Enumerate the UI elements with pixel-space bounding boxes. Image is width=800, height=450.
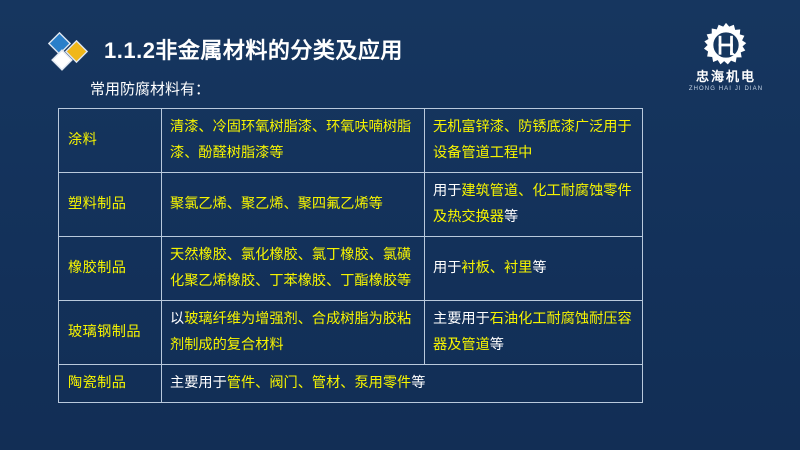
- slide-subtitle: 常用防腐材料有：: [90, 78, 210, 99]
- row-uses-lead: 用于: [433, 260, 461, 276]
- row-uses: 用于衬板、衬里等: [425, 237, 643, 301]
- row-uses-main: 衬板、衬里: [461, 260, 532, 276]
- page-title: 1.1.2非金属材料的分类及应用: [104, 33, 403, 65]
- row-uses-tail: 等: [504, 209, 518, 225]
- table-row: 塑料制品 聚氯乙烯、聚乙烯、聚四氟乙烯等 用于建筑管道、化工耐腐蚀零件及热交换器…: [59, 173, 643, 237]
- company-name-cn: 忠海机电: [696, 69, 756, 84]
- table-row: 陶瓷制品 主要用于管件、阀门、管材、泵用零件等: [59, 365, 643, 403]
- row-uses-main: 无机富锌漆、防锈底漆广泛用于设备管道工程中: [433, 119, 632, 161]
- row-category: 塑料制品: [59, 173, 162, 237]
- table-row: 玻璃钢制品 以玻璃纤维为增强剂、合成树脂为胶粘剂制成的复合材料 主要用于石油化工…: [59, 301, 643, 365]
- slide-header: 1.1.2非金属材料的分类及应用 常用防腐材料有： 忠海机电 ZHONG HAI…: [0, 0, 800, 86]
- row-items-lead: 以: [170, 311, 184, 327]
- row-category: 橡胶制品: [59, 237, 162, 301]
- materials-table: 涂料 清漆、冷固环氧树脂漆、环氧呋喃树脂漆、酚醛树脂漆等 无机富锌漆、防锈底漆广…: [58, 108, 643, 403]
- row-uses: 主要用于石油化工耐腐蚀耐压容器及管道等: [425, 301, 643, 365]
- row-uses: 无机富锌漆、防锈底漆广泛用于设备管道工程中: [425, 109, 643, 173]
- row-uses-tail: 等: [490, 337, 504, 353]
- slide-canvas: 1.1.2非金属材料的分类及应用 常用防腐材料有： 忠海机电 ZHONG HAI…: [0, 0, 800, 450]
- row-items: 天然橡胶、氯化橡胶、氯丁橡胶、氯磺化聚乙烯橡胶、丁苯橡胶、丁酯橡胶等: [162, 237, 425, 301]
- row-summary-main: 管件、阀门、管材、泵用零件: [227, 375, 411, 391]
- row-summary-lead: 主要用于: [170, 375, 227, 391]
- table-row: 涂料 清漆、冷固环氧树脂漆、环氧呋喃树脂漆、酚醛树脂漆等 无机富锌漆、防锈底漆广…: [59, 109, 643, 173]
- row-category: 涂料: [59, 109, 162, 173]
- row-items-main: 玻璃纤维为增强剂、合成树脂为胶粘剂制成的复合材料: [170, 311, 411, 353]
- company-logo: 忠海机电 ZHONG HAI JI DIAN: [666, 22, 786, 96]
- row-uses-lead: 用于: [433, 183, 461, 199]
- row-category: 玻璃钢制品: [59, 301, 162, 365]
- row-category: 陶瓷制品: [59, 365, 162, 403]
- company-name-en: ZHONG HAI JI DIAN: [689, 85, 763, 93]
- table-row: 橡胶制品 天然橡胶、氯化橡胶、氯丁橡胶、氯磺化聚乙烯橡胶、丁苯橡胶、丁酯橡胶等 …: [59, 237, 643, 301]
- gear-monogram-icon: [703, 22, 749, 68]
- row-uses: 用于建筑管道、化工耐腐蚀零件及热交换器等: [425, 173, 643, 237]
- row-uses-main: 建筑管道、化工耐腐蚀零件及热交换器: [433, 183, 632, 225]
- row-uses-lead: 主要用于: [433, 311, 490, 327]
- row-uses-tail: 等: [532, 260, 546, 276]
- row-items: 以玻璃纤维为增强剂、合成树脂为胶粘剂制成的复合材料: [162, 301, 425, 365]
- row-summary: 主要用于管件、阀门、管材、泵用零件等: [162, 365, 643, 403]
- row-items: 聚氯乙烯、聚乙烯、聚四氟乙烯等: [162, 173, 425, 237]
- diamond-bullet-icon: [48, 32, 94, 74]
- row-items: 清漆、冷固环氧树脂漆、环氧呋喃树脂漆、酚醛树脂漆等: [162, 109, 425, 173]
- row-summary-tail: 等: [411, 375, 425, 391]
